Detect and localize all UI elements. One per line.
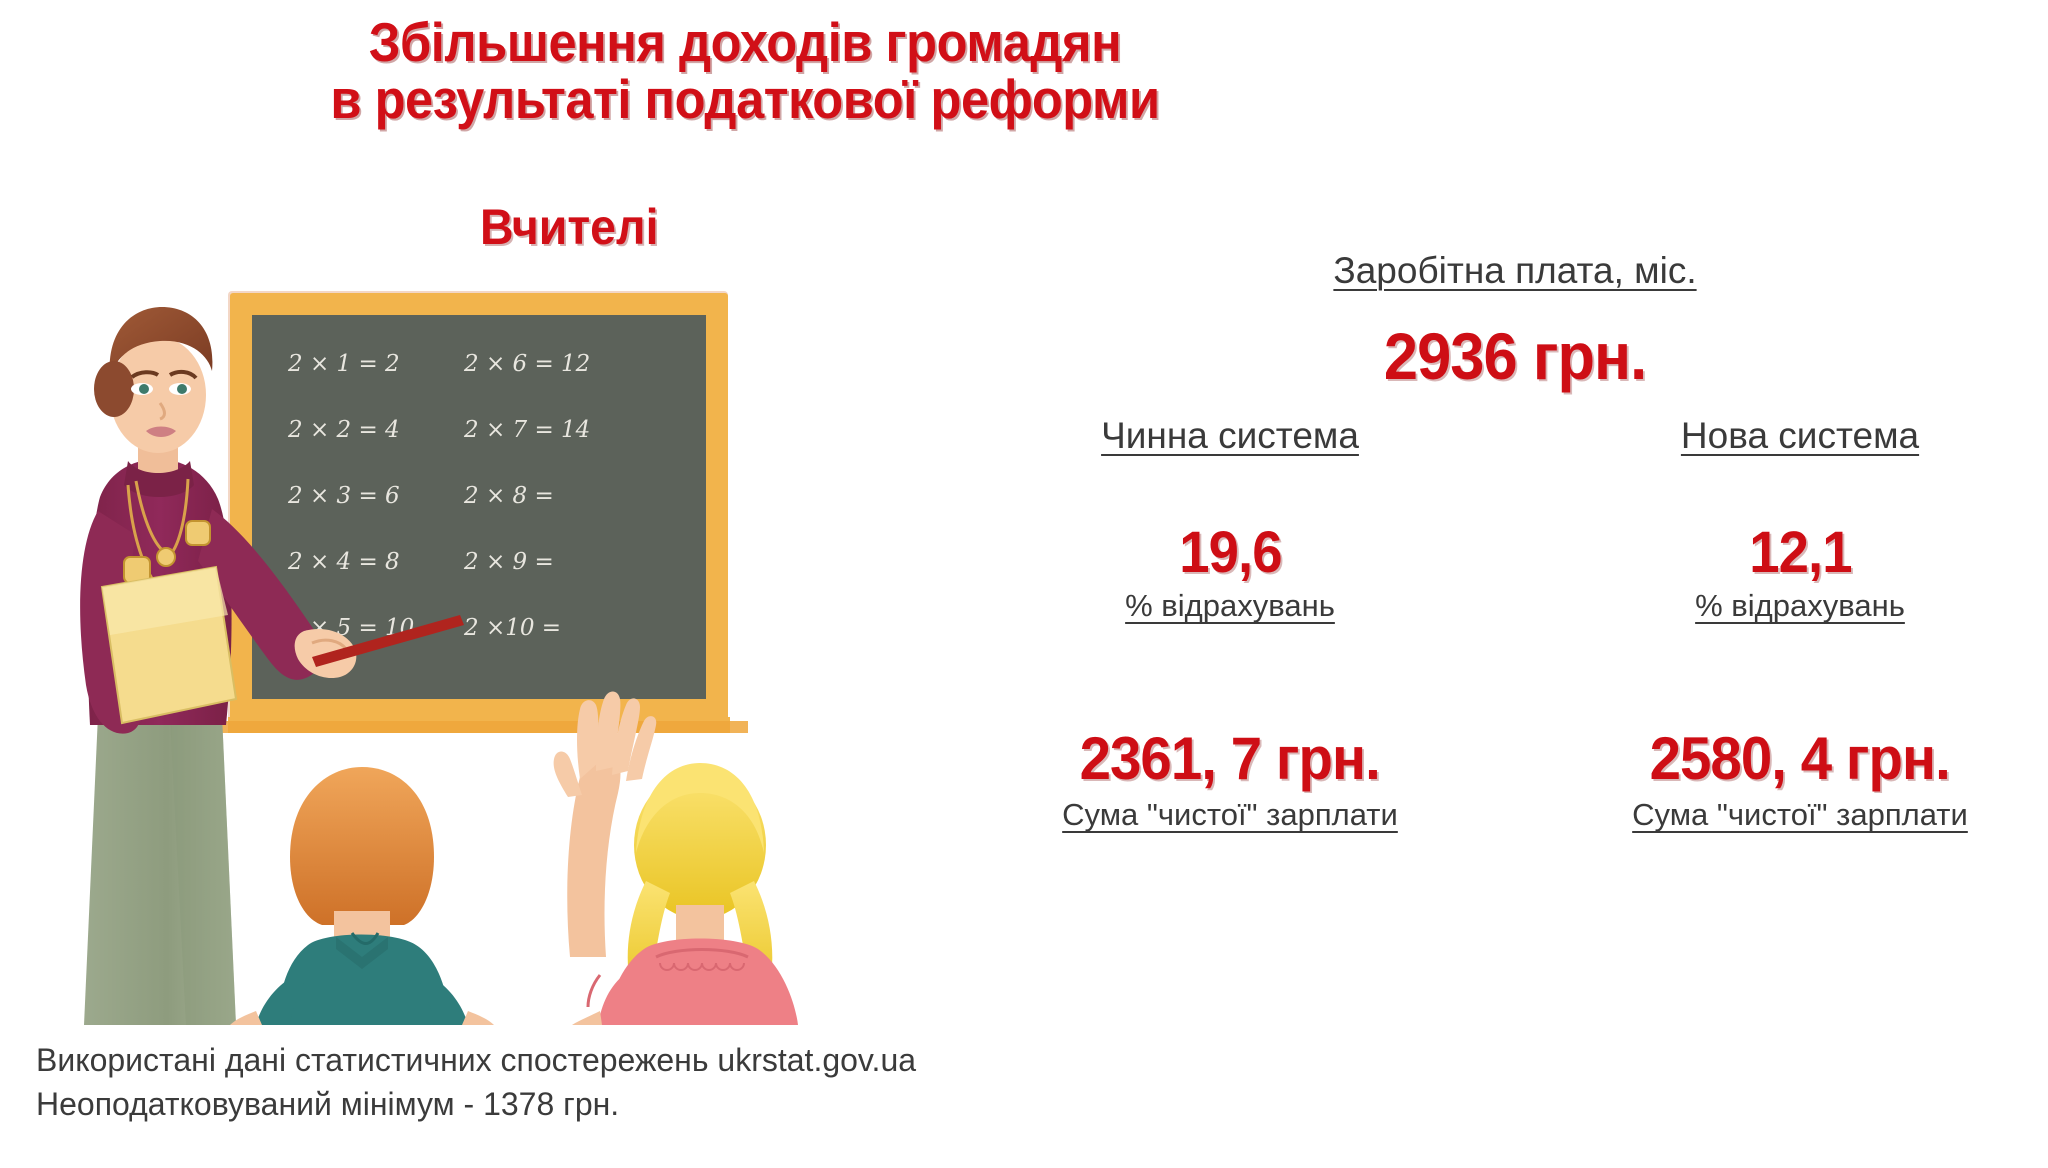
- new-net-row: 2580, 4 грн.: [1580, 724, 2020, 793]
- pendant-2: [186, 521, 210, 545]
- svg-text:2 × 7 = 14: 2 × 7 = 14: [463, 417, 590, 443]
- column-new-system: Нова система 12,1 % відрахувань 2580, 4 …: [1580, 415, 2020, 833]
- salary-heading-row: Заробітна плата, міс.: [1000, 250, 2030, 292]
- column-current-system: Чинна система 19,6 % відрахувань 2361, 7…: [1010, 415, 1450, 833]
- footnote-line-2: Неоподатковуваний мінімум - 1378 грн.: [36, 1082, 1236, 1126]
- salary-comparison-panel: Заробітна плата, міс. 2936 грн. Чинна си…: [1000, 250, 2030, 930]
- teacher-classroom-illustration: 2 × 1 = 2 2 × 2 = 4 2 × 3 = 6 2 × 4 = 8 …: [40, 285, 1000, 1025]
- boy-hair: [290, 767, 434, 925]
- new-net-label-row: Сума "чистої" зарплати: [1580, 797, 2020, 833]
- new-net-label: Сума "чистої" зарплати: [1632, 797, 1968, 833]
- salary-value: 2936 грн.: [1384, 318, 1646, 394]
- column-current-heading-row: Чинна система: [1010, 415, 1450, 457]
- new-percent-label-row: % відрахувань: [1580, 588, 2020, 624]
- current-net-value: 2361, 7 грн.: [1080, 724, 1380, 793]
- svg-text:2 × 6 = 12: 2 × 6 = 12: [463, 351, 590, 377]
- current-net-label-row: Сума "чистої" зарплати: [1010, 797, 1450, 833]
- page-title-line-1: Збільшення доходів громадян: [60, 14, 1431, 71]
- salary-heading: Заробітна плата, міс.: [1333, 250, 1696, 292]
- girl-figure: [554, 692, 798, 1026]
- svg-text:2 × 4 = 8: 2 × 4 = 8: [287, 549, 400, 575]
- new-percent-label: % відрахувань: [1695, 588, 1905, 624]
- new-net-value: 2580, 4 грн.: [1650, 724, 1950, 793]
- svg-text:2 × 3 = 6: 2 × 3 = 6: [287, 483, 400, 509]
- svg-text:2 × 9 =: 2 × 9 =: [463, 549, 554, 575]
- svg-text:2 × 2 = 4: 2 × 2 = 4: [287, 417, 400, 443]
- svg-text:2 × 8 =: 2 × 8 =: [463, 483, 554, 509]
- source-footnote: Використані дані статистичних спостереже…: [36, 1038, 1236, 1126]
- current-net-row: 2361, 7 грн.: [1010, 724, 1450, 793]
- salary-value-row: 2936 грн.: [1000, 318, 2030, 394]
- page-title-line-2: в результаті податкової реформи: [60, 71, 1431, 128]
- svg-text:2 ×10 =: 2 ×10 =: [463, 615, 561, 641]
- new-percent-value: 12,1: [1749, 519, 1851, 586]
- column-new-heading-row: Нова система: [1580, 415, 2020, 457]
- current-percent-label: % відрахувань: [1125, 588, 1335, 624]
- column-current-heading: Чинна система: [1101, 415, 1359, 457]
- current-net-label: Сума "чистої" зарплати: [1062, 797, 1398, 833]
- current-percent-value: 19,6: [1179, 519, 1281, 586]
- footnote-line-1: Використані дані статистичних спостереже…: [36, 1038, 1236, 1082]
- new-percent-row: 12,1: [1580, 519, 2020, 586]
- boy-shirt: [278, 935, 450, 1026]
- current-percent-label-row: % відрахувань: [1010, 588, 1450, 624]
- svg-text:2 × 1 = 2: 2 × 1 = 2: [287, 351, 400, 377]
- current-percent-row: 19,6: [1010, 519, 1450, 586]
- teacher-hair-bun: [94, 361, 134, 417]
- category-label: Вчителі: [480, 198, 658, 256]
- boy-figure: [230, 767, 494, 1025]
- column-new-heading: Нова система: [1681, 415, 1919, 457]
- page-title: Збільшення доходів громадян в результаті…: [0, 14, 1490, 128]
